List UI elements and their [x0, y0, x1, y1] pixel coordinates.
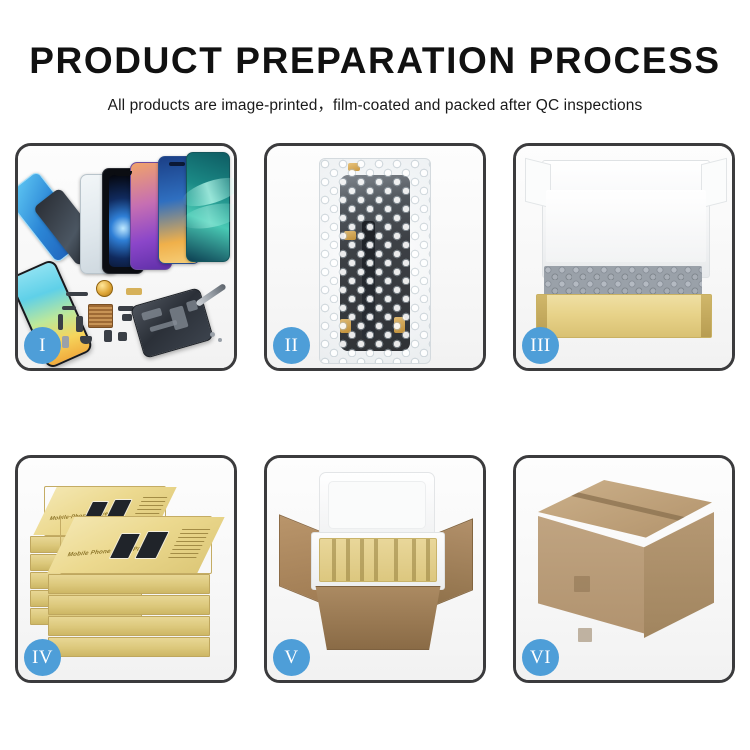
punch-hole-icon — [169, 162, 185, 166]
box-end-right — [701, 295, 711, 337]
speaker-part — [122, 314, 132, 321]
notch-icon — [114, 171, 132, 176]
step-panel-3[interactable]: III — [513, 143, 735, 371]
kraft-box-divider-3 — [360, 539, 364, 581]
step-panel-5[interactable]: V — [264, 455, 486, 683]
bubble-wrap-bag-icon — [319, 158, 431, 364]
mailer-box-base-icon — [536, 294, 712, 338]
sim-tray-part — [62, 336, 69, 348]
flex-cable-part-c — [76, 316, 83, 332]
kraft-box-divider-7 — [426, 539, 430, 581]
step-badge-2: II — [273, 327, 310, 364]
logic-board-chip-part — [88, 304, 113, 328]
kraft-box-side-6 — [48, 574, 210, 594]
connector-part — [126, 288, 142, 295]
kraft-box-side-7 — [48, 595, 210, 615]
kraft-box-lid-front: Mobile Phone Spare Parts — [60, 516, 212, 574]
step-badge-5: V — [273, 639, 310, 676]
carton-front-panel — [307, 586, 449, 650]
flex-cable-part-b — [58, 314, 63, 330]
screw-part-a — [210, 332, 215, 337]
kraft-box-divider-5 — [394, 539, 398, 581]
step-badge-1: I — [24, 327, 61, 364]
step-panel-4[interactable]: Mobile Phone Spare Parts Mobile Phone Sp… — [15, 455, 237, 683]
step-badge-3: III — [522, 327, 559, 364]
carton-tape-seam — [557, 488, 701, 526]
page-subtitle: All products are image-printed，film-coat… — [0, 93, 750, 115]
kraft-box-side-9 — [48, 637, 210, 657]
kraft-boxes-inside-icon — [319, 538, 437, 582]
kraft-box-side-8 — [48, 616, 210, 636]
product-preparation-infographic: PRODUCT PREPARATION PROCESS All products… — [0, 0, 750, 750]
step-badge-4: IV — [24, 639, 61, 676]
phone-display-teal-icon — [186, 152, 230, 262]
step-panel-6[interactable]: VI — [513, 455, 735, 683]
process-steps-grid: I II — [0, 143, 750, 683]
foam-box-lid-icon — [319, 472, 435, 538]
kraft-box-divider-6 — [412, 539, 416, 581]
antenna-strip-part — [66, 292, 88, 296]
step-panel-2[interactable]: II — [264, 143, 486, 371]
foam-sheet-icon — [546, 190, 706, 262]
header: PRODUCT PREPARATION PROCESS All products… — [0, 0, 750, 115]
kraft-box-stack-icon: Mobile Phone Spare Parts Mobile Phone Sp… — [26, 474, 232, 670]
screw-bracket-part — [118, 332, 127, 341]
step-badge-6: VI — [522, 639, 559, 676]
carton-tab-lower — [578, 628, 592, 642]
foam-lid-inner — [328, 481, 426, 529]
step-panel-1[interactable]: I — [15, 143, 237, 371]
taptic-engine-part — [80, 336, 92, 344]
kraft-box-divider-2 — [346, 539, 350, 581]
vibration-motor-icon — [96, 280, 113, 297]
kraft-box-divider-1 — [332, 539, 336, 581]
carton-tab-upper — [574, 576, 590, 592]
button-part — [104, 330, 112, 342]
page-title: PRODUCT PREPARATION PROCESS — [0, 42, 750, 81]
bubble-texture-icon — [320, 159, 430, 363]
kraft-box-divider-4 — [374, 539, 378, 581]
screw-part-b — [218, 338, 222, 342]
flex-cable-part-a — [62, 306, 76, 310]
